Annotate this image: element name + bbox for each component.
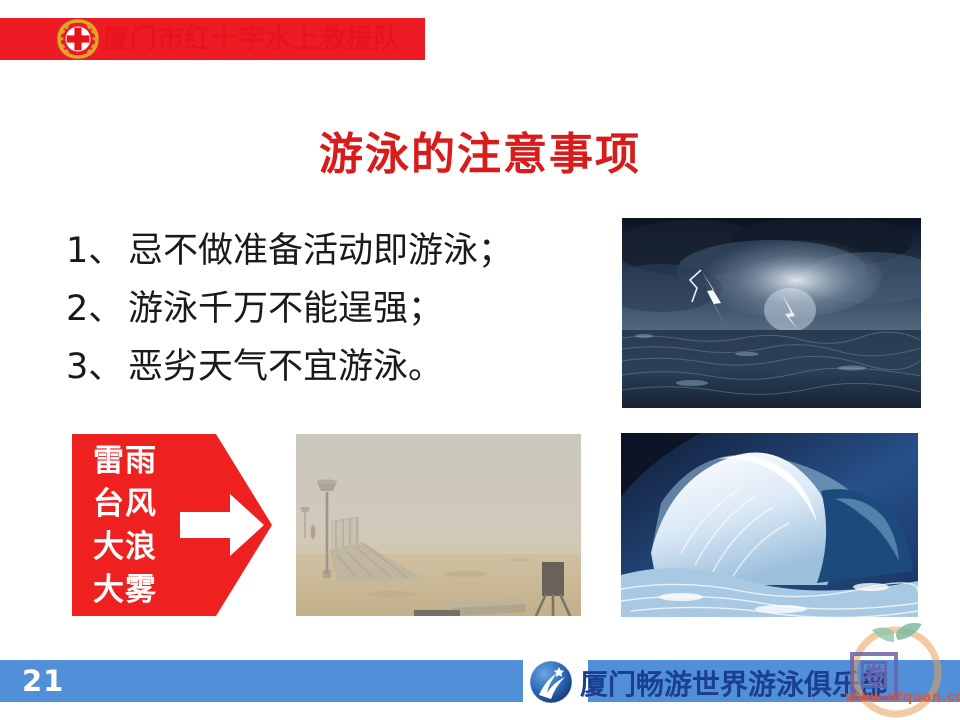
warning-word: 大浪 xyxy=(80,526,170,569)
thunderstorm-over-sea-photo xyxy=(622,218,921,408)
foggy-beach-photo xyxy=(296,434,581,616)
header-org-name: 厦门市红十字水上救援队 xyxy=(103,21,400,59)
list-item: 1、忌不做准备活动即游泳； xyxy=(66,222,626,280)
bullet-text: 游泳千万不能逞强； xyxy=(128,289,443,329)
bullet-list: 1、忌不做准备活动即游泳； 2、游泳千万不能逞强； 3、恶劣天气不宜游泳。 xyxy=(66,222,626,396)
slide-canvas: 厦门市红十字水上救援队 游泳的注意事项 1、忌不做准备活动即游泳； 2、游泳千万… xyxy=(0,0,960,720)
list-item: 2、游泳千万不能逞强； xyxy=(66,280,626,338)
watermark-url: www.nfquan.com xyxy=(845,690,960,705)
bullet-number: 3、 xyxy=(66,338,128,396)
page-title: 游泳的注意事项 xyxy=(0,118,960,182)
red-cross-wreath-icon xyxy=(56,19,100,59)
bullet-number: 2、 xyxy=(66,280,128,338)
warning-word: 雷雨 xyxy=(80,440,170,483)
bullet-text: 恶劣天气不宜游泳。 xyxy=(128,347,443,387)
big-ocean-wave-photo xyxy=(621,433,918,617)
list-item: 3、恶劣天气不宜游泳。 xyxy=(66,338,626,396)
club-name: 厦门畅游世界游泳俱乐部 xyxy=(580,663,888,703)
warning-word: 大雾 xyxy=(80,569,170,612)
blue-globe-icon xyxy=(527,659,575,705)
page-number: 21 xyxy=(22,664,64,698)
warning-word: 台风 xyxy=(80,483,170,526)
footer-bar-left xyxy=(0,660,523,702)
bullet-text: 忌不做准备活动即游泳； xyxy=(128,231,513,271)
warning-word-list: 雷雨 台风 大浪 大雾 xyxy=(80,440,170,612)
bullet-number: 1、 xyxy=(66,222,128,280)
